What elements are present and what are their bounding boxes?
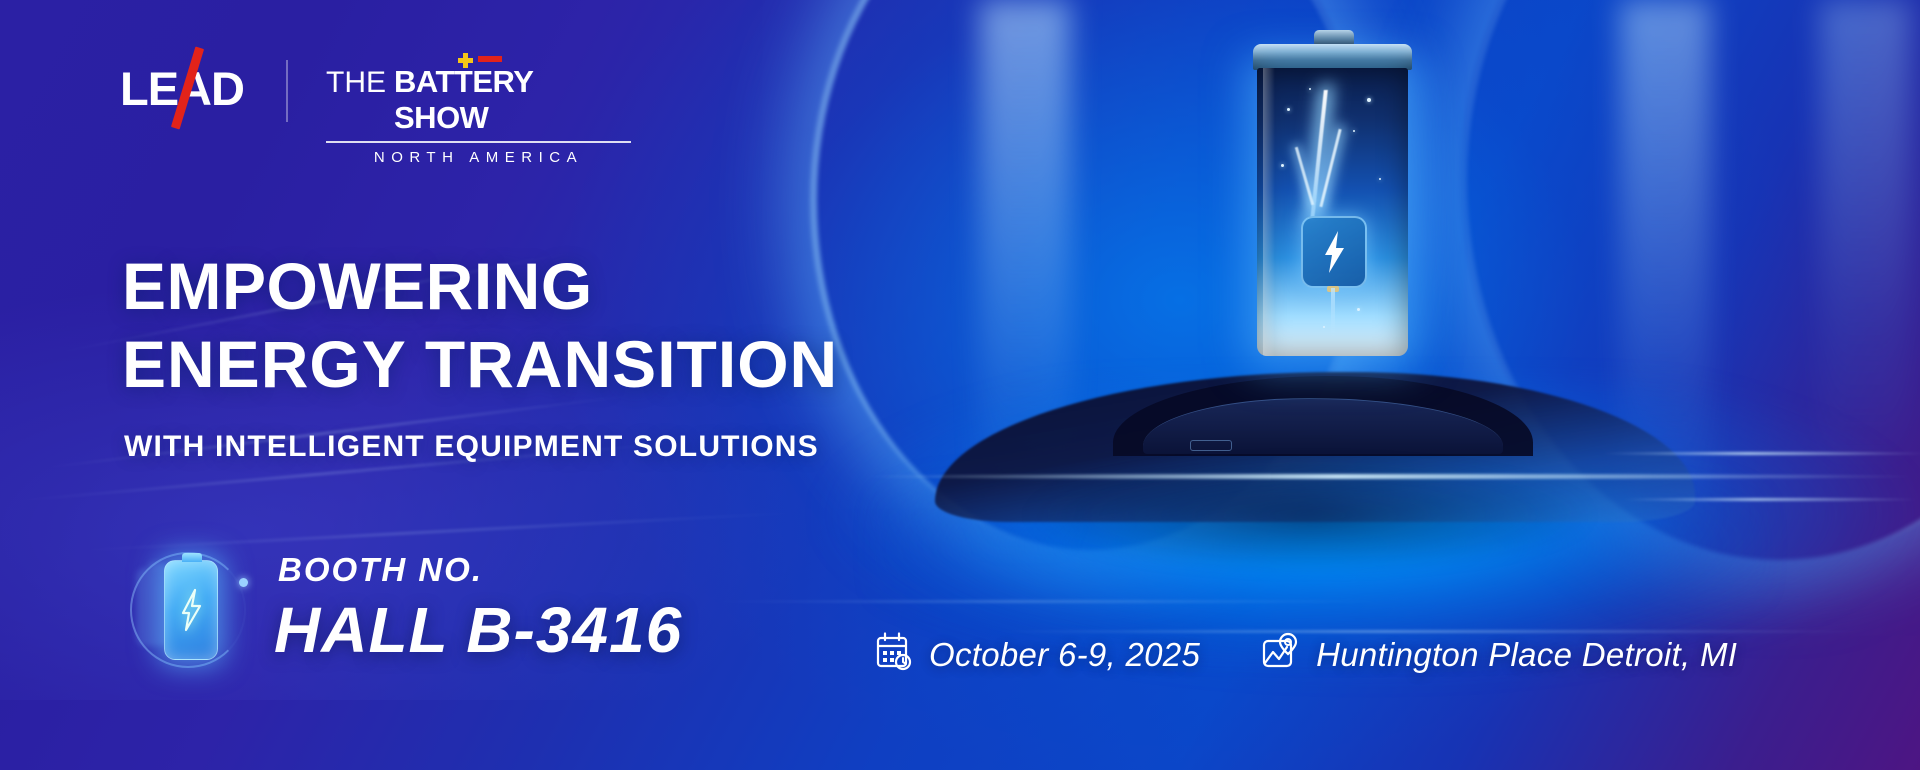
event-date-text: October 6-9, 2025 xyxy=(929,636,1200,674)
battery-show-region: NORTH AMERICA xyxy=(326,149,631,166)
battery-show-primary: THE BATTERY SHOW xyxy=(326,64,631,136)
banner-content: LEAD THE BATTERY SHOW NORTH AMERICA xyxy=(0,0,1920,770)
plus-symbol-icon xyxy=(458,53,473,68)
battery-show-wordmark-text: BATTERY SHOW xyxy=(394,64,533,135)
lead-logo: LEAD xyxy=(120,62,248,116)
glowing-battery-icon xyxy=(128,538,248,678)
bolt-icon xyxy=(180,588,202,632)
battery-show-logo: THE BATTERY SHOW NORTH AMERICA xyxy=(326,62,631,166)
minus-symbol-icon xyxy=(478,56,502,62)
promo-banner: LEAD THE BATTERY SHOW NORTH AMERICA xyxy=(0,0,1920,770)
logo-divider xyxy=(286,60,288,122)
booth-hall-number: HALL B-3416 xyxy=(274,595,682,665)
battery-show-wordmark: BATTERY SHOW xyxy=(394,64,631,136)
headline-subtitle: WITH INTELLIGENT EQUIPMENT SOLUTIONS xyxy=(124,430,819,464)
battery-show-rule xyxy=(326,141,631,143)
headline-line-1: EMPOWERING xyxy=(122,247,838,325)
event-location-item: Huntington Place Detroit, MI xyxy=(1262,632,1737,677)
logo-row: LEAD THE BATTERY SHOW NORTH AMERICA xyxy=(120,62,631,166)
map-location-icon xyxy=(1262,632,1300,677)
battery-icon-ring-dot xyxy=(239,578,248,587)
event-location-text: Huntington Place Detroit, MI xyxy=(1316,636,1737,674)
headline-line-2: ENERGY TRANSITION xyxy=(122,325,838,403)
booth-label: BOOTH NO. xyxy=(274,551,682,589)
calendar-clock-icon xyxy=(875,632,913,677)
page-title: EMPOWERING ENERGY TRANSITION xyxy=(122,247,838,403)
event-info-row: October 6-9, 2025 Huntington Place Detro… xyxy=(875,632,1737,677)
booth-text: BOOTH NO. HALL B-3416 xyxy=(274,551,682,665)
booth-info: BOOTH NO. HALL B-3416 xyxy=(128,538,682,678)
event-date-item: October 6-9, 2025 xyxy=(875,632,1200,677)
battery-icon-main xyxy=(164,560,218,660)
battery-show-the: THE xyxy=(326,66,386,100)
